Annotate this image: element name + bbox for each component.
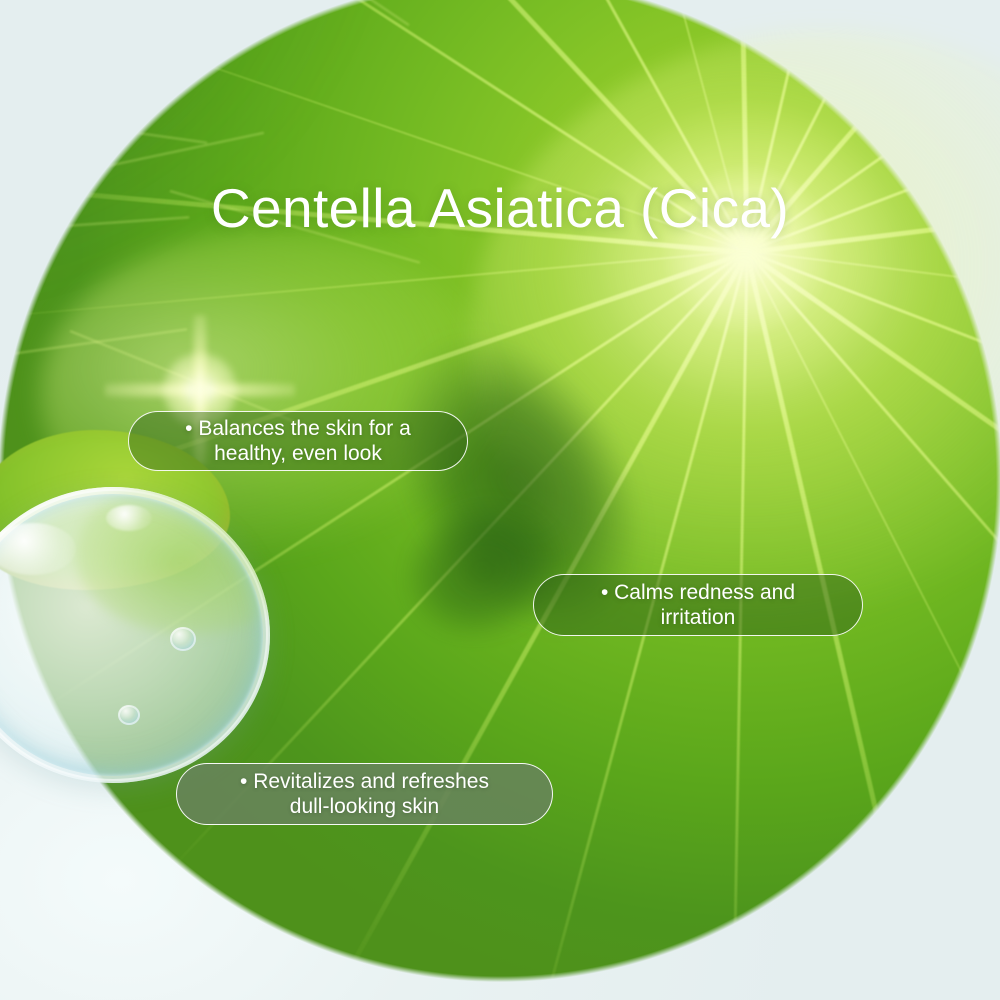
infographic-canvas: Centella Asiatica (Cica) • Balances the … [0,0,1000,1000]
droplet-inner-bubble-2 [118,705,140,725]
benefit-pill-revitalizes[interactable]: • Revitalizes and refreshes dull-looking… [176,763,553,825]
droplet-inner-bubble-1 [170,627,196,651]
droplet-specular-highlight-small [106,505,152,531]
page-title: Centella Asiatica (Cica) [0,177,1000,239]
benefit-pill-calms[interactable]: • Calms redness and irritation [533,574,863,636]
benefit-pill-balances[interactable]: • Balances the skin for a healthy, even … [128,411,468,471]
